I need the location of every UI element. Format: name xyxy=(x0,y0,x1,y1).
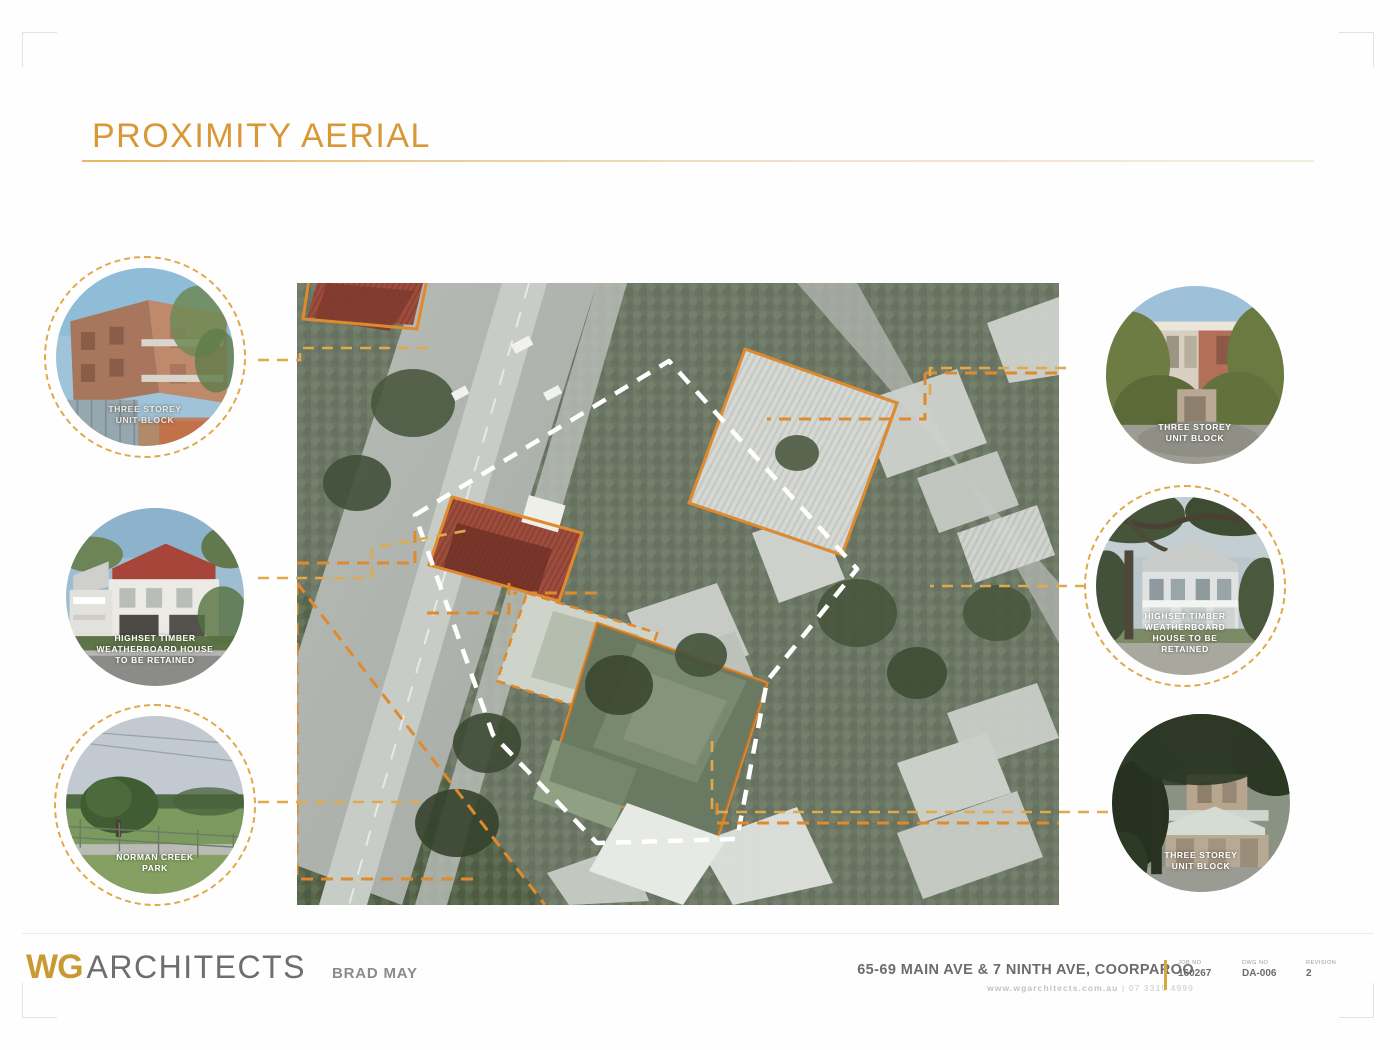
drawing-meta: JOB No 160267 DWG No DA-006 REVISION 2 xyxy=(1178,960,1340,979)
crop-mark-bottom-left xyxy=(22,983,57,1018)
callout-three-storey-unit-block-left[interactable]: THREE STOREY UNIT BLOCK xyxy=(56,268,234,446)
callout-caption: THREE STOREY UNIT BLOCK xyxy=(64,404,226,426)
phone-separator: | xyxy=(1122,983,1129,993)
callout-caption: HIGHSET TIMBER WEATHERBOARD HOUSE TO BE … xyxy=(74,633,236,666)
aerial-imagery xyxy=(297,283,1059,905)
callout-caption: THREE STOREY UNIT BLOCK xyxy=(1114,422,1276,444)
footer-divider xyxy=(22,933,1374,934)
callout-caption: NORMAN CREEK PARK xyxy=(74,852,236,874)
page-title: PROXIMITY AERIAL xyxy=(92,117,431,156)
callout-three-storey-unit-block-right-bottom[interactable]: THREE STOREY UNIT BLOCK xyxy=(1112,714,1290,892)
company-contact: www.wgarchitects.com.au | 07 3319 4999 xyxy=(857,983,1194,993)
crop-mark-bottom-right xyxy=(1339,983,1374,1018)
meta-dwg-value: DA-006 xyxy=(1242,968,1286,979)
website-url[interactable]: www.wgarchitects.com.au xyxy=(987,983,1118,993)
project-address: 65-69 MAIN AVE & 7 NINTH AVE, COORPAROO xyxy=(857,962,1194,978)
logo-mark-wg: WG xyxy=(26,950,83,984)
logo-word-architects: ARCHITECTS xyxy=(87,951,306,983)
meta-dwg-number: DWG No DA-006 xyxy=(1242,960,1286,979)
meta-job-number: JOB No 160267 xyxy=(1178,960,1222,979)
meta-accent-bar xyxy=(1164,960,1167,990)
callout-three-storey-unit-block-right-top[interactable]: THREE STOREY UNIT BLOCK xyxy=(1106,286,1284,464)
company-logo[interactable]: WG ARCHITECTS BRAD MAY xyxy=(26,950,418,984)
slide-canvas: PROXIMITY AERIAL xyxy=(0,0,1400,1050)
meta-job-value: 160267 xyxy=(1178,968,1222,979)
meta-job-label: JOB No xyxy=(1178,960,1222,966)
callout-caption: HIGHSET TIMBER WEATHERBOARD HOUSE TO BE … xyxy=(1104,611,1266,655)
meta-revision: REVISION 2 xyxy=(1306,960,1340,979)
crop-mark-top-left xyxy=(22,32,57,67)
callout-highset-timber-house-left[interactable]: HIGHSET TIMBER WEATHERBOARD HOUSE TO BE … xyxy=(66,508,244,686)
project-info: 65-69 MAIN AVE & 7 NINTH AVE, COORPAROO … xyxy=(857,962,1194,993)
meta-revision-label: REVISION xyxy=(1306,960,1340,966)
crop-mark-top-right xyxy=(1339,32,1374,67)
callout-highset-timber-house-right[interactable]: HIGHSET TIMBER WEATHERBOARD HOUSE TO BE … xyxy=(1096,497,1274,675)
callout-norman-creek-park[interactable]: NORMAN CREEK PARK xyxy=(66,716,244,894)
phone-number: 07 3319 4999 xyxy=(1129,983,1194,993)
callout-caption: THREE STOREY UNIT BLOCK xyxy=(1120,850,1282,872)
client-name: BRAD MAY xyxy=(332,965,418,982)
meta-dwg-label: DWG No xyxy=(1242,960,1286,966)
meta-revision-value: 2 xyxy=(1306,968,1340,979)
aerial-photo xyxy=(297,283,1059,905)
title-divider xyxy=(82,160,1314,162)
